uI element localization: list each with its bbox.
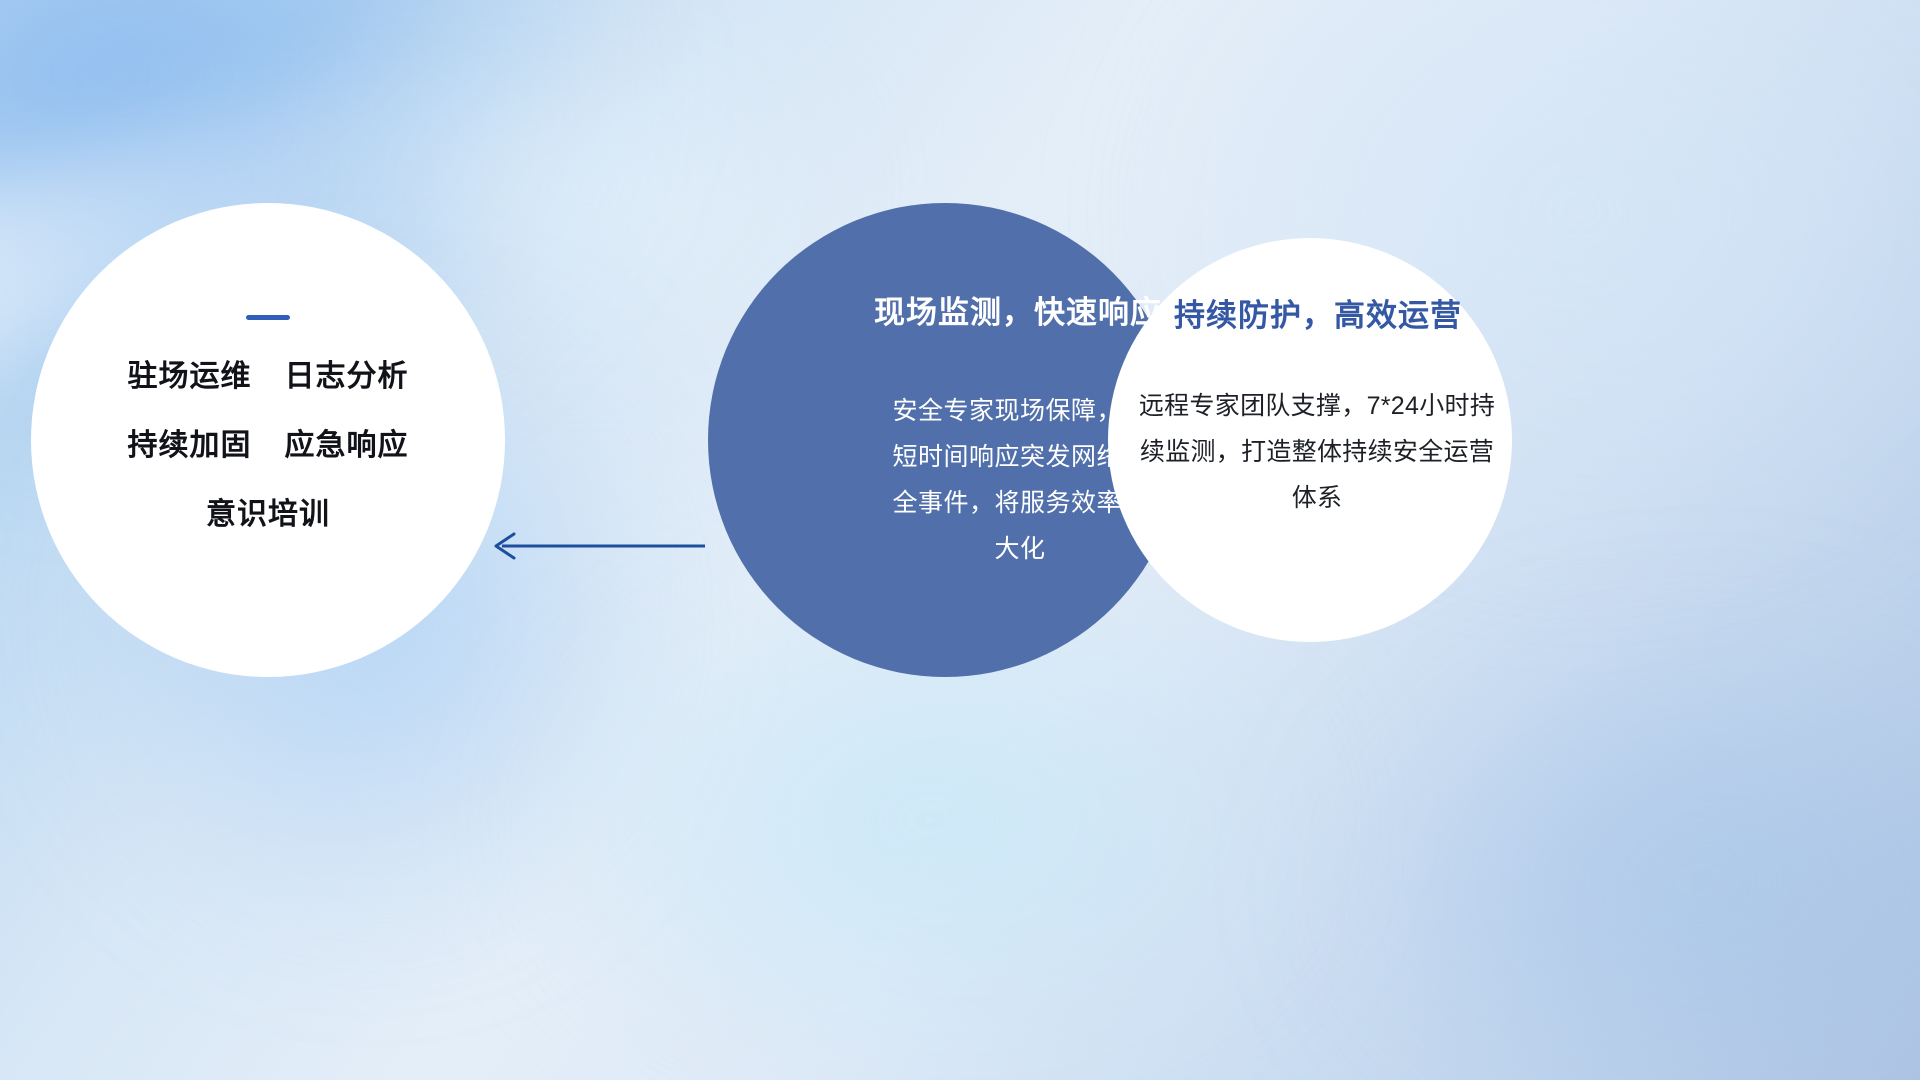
right-circle-body: 远程专家团队支撑，7*24小时持续监测，打造整体持续安全运营体系 xyxy=(1131,383,1503,521)
left-circle-content: 驻场运维 日志分析 持续加固 应急响应 意识培训 xyxy=(31,203,505,677)
right-circle-title: 持续防护，高效运营 xyxy=(1174,290,1462,335)
capability-tag-row: 驻场运维 日志分析 xyxy=(128,362,409,392)
left-capability-circle: 驻场运维 日志分析 持续加固 应急响应 意识培训 xyxy=(31,203,505,677)
capability-tag: 应急响应 xyxy=(285,431,409,461)
diagram-canvas: 驻场运维 日志分析 持续加固 应急响应 意识培训 现场监测，快速响应 安全专家现… xyxy=(0,0,1920,1080)
capability-tag-row: 持续加固 应急响应 xyxy=(128,431,409,461)
right-service-circle: 持续防护，高效运营 远程专家团队支撑，7*24小时持续监测，打造整体持续安全运营… xyxy=(1108,238,1512,642)
capability-tag: 驻场运维 xyxy=(128,362,252,392)
capability-tag: 意识培训 xyxy=(206,500,330,530)
arrow-left-icon xyxy=(480,516,710,576)
background-blob xyxy=(1320,620,1920,1080)
right-circle-content: 持续防护，高效运营 远程专家团队支撑，7*24小时持续监测，打造整体持续安全运营… xyxy=(1108,238,1512,642)
capability-tag: 日志分析 xyxy=(285,362,409,392)
capability-tag-row: 意识培训 xyxy=(206,500,330,530)
capability-tag: 持续加固 xyxy=(128,431,252,461)
accent-dash-icon xyxy=(246,315,290,320)
